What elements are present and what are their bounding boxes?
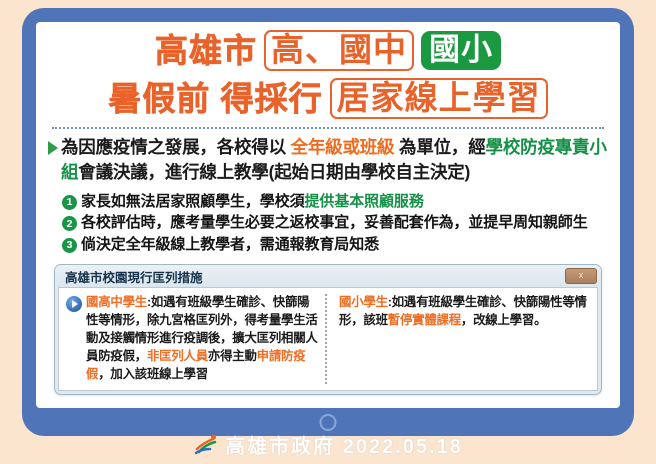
main-paragraph: 為因應疫情之發展，各校得以 全年級或班級 為單位，經學校防疫專責小組會議決議，進… [48, 135, 608, 185]
headline-badge-online-learning: 居家線上學習 [330, 78, 548, 119]
right-seg-1: 國小學生 [339, 295, 388, 309]
triangle-bullet-icon [48, 141, 58, 155]
para-seg-2: 全年級或班級 [291, 137, 395, 157]
left-seg-4: 亦得主動 [208, 349, 257, 363]
list-item: 2 各校評估時，應考量學生必要之返校事宜，妥善配套作為，並提早周知親師生 [62, 213, 620, 233]
footer-bar: 高雄市政府 2022.05.18 [0, 424, 656, 464]
left-seg-6: ，加入該班線上學習 [98, 367, 208, 381]
main-paragraph-text: 為因應疫情之發展，各校得以 全年級或班級 為單位，經學校防疫專責小組會議決議，進… [61, 135, 608, 185]
list-item-text: 倘決定全年級線上教學者，需通報教育局知悉 [81, 235, 379, 255]
kaohsiung-city-logo [193, 432, 219, 456]
dotted-divider [52, 127, 604, 129]
tablet-device-frame: 高雄市 高、國中 國小 暑假前 得採行 居家線上學習 為因應疫情之發展，各校得以… [22, 8, 634, 436]
tablet-screen: 高雄市 高、國中 國小 暑假前 得採行 居家線上學習 為因應疫情之發展，各校得以… [36, 22, 620, 408]
item1-seg-1: 家長如無法居家照顧學生，學校須 [81, 193, 305, 210]
panel-right-text: 國小學生:如遇有班級學生確診、快篩陽性等情形，該班暫停實體課程，改線上學習。 [339, 294, 590, 330]
close-icon[interactable]: x [565, 268, 597, 284]
headline-badge-elementary: 國小 [421, 31, 501, 70]
play-circle-icon [66, 296, 82, 312]
headline-word-city: 高雄市 [155, 34, 257, 67]
right-seg-4: ，改線上學習。 [461, 313, 546, 327]
panel-title: 高雄市校園現行匡列措施 [65, 267, 203, 286]
quarantine-measures-panel: 高雄市校園現行匡列措施 x 國高中學生:如遇有班級學生確診、快篩陽性等情形，除九… [54, 264, 602, 395]
panel-column-elementary: 國小學生:如遇有班級學生確診、快篩陽性等情形，該班暫停實體課程，改線上學習。 [327, 288, 597, 390]
headline-word-before-summer: 暑假前 得採行 [108, 82, 322, 115]
list-item: 1 家長如無法居家照顧學生，學校須提供基本照顧服務 [62, 192, 620, 212]
panel-left-text: 國高中學生:如遇有班級學生確診、快篩陽性等情形，除九宮格匡列外，得考量學生活動及… [86, 294, 318, 384]
headline-badge-highschool: 高、國中 [264, 30, 414, 71]
headline-line-2: 暑假前 得採行 居家線上學習 [36, 78, 620, 119]
headline-line-1: 高雄市 高、國中 國小 [36, 30, 620, 71]
para-seg-1: 為因應疫情之發展，各校得以 [61, 137, 291, 157]
para-seg-5: 會議決議，進行線上教學(起始日期由學校自主決定) [78, 162, 470, 182]
list-number-badge: 1 [62, 195, 77, 210]
item1-seg-2: 提供基本照顧服務 [305, 193, 424, 210]
left-seg-3: 非匡列人員 [147, 349, 208, 363]
left-seg-1: 國高中學生 [86, 295, 147, 309]
list-item: 3 倘決定全年級線上教學者，需通報教育局知悉 [62, 235, 620, 255]
list-item-text: 各校評估時，應考量學生必要之返校事宜，妥善配套作為，並提早周知親師生 [81, 213, 588, 233]
list-number-badge: 3 [62, 238, 77, 253]
right-seg-3: 暫停實體課程 [388, 313, 461, 327]
panel-column-secondary: 國高中學生:如遇有班級學生確診、快篩陽性等情形，除九宮格匡列外，得考量學生活動及… [59, 288, 325, 390]
numbered-list: 1 家長如無法居家照顧學生，學校須提供基本照顧服務 2 各校評估時，應考量學生必… [62, 192, 620, 255]
headline-block: 高雄市 高、國中 國小 暑假前 得採行 居家線上學習 [36, 22, 620, 119]
panel-title-bar: 高雄市校園現行匡列措施 x [55, 265, 601, 287]
footer-text: 高雄市政府 2022.05.18 [225, 430, 463, 459]
list-item-text: 家長如無法居家照顧學生，學校須提供基本照顧服務 [81, 192, 424, 212]
panel-body: 國高中學生:如遇有班級學生確診、快篩陽性等情形，除九宮格匡列外，得考量學生活動及… [58, 287, 598, 391]
list-number-badge: 2 [62, 216, 77, 231]
para-seg-3: 為單位，經 [394, 137, 485, 157]
